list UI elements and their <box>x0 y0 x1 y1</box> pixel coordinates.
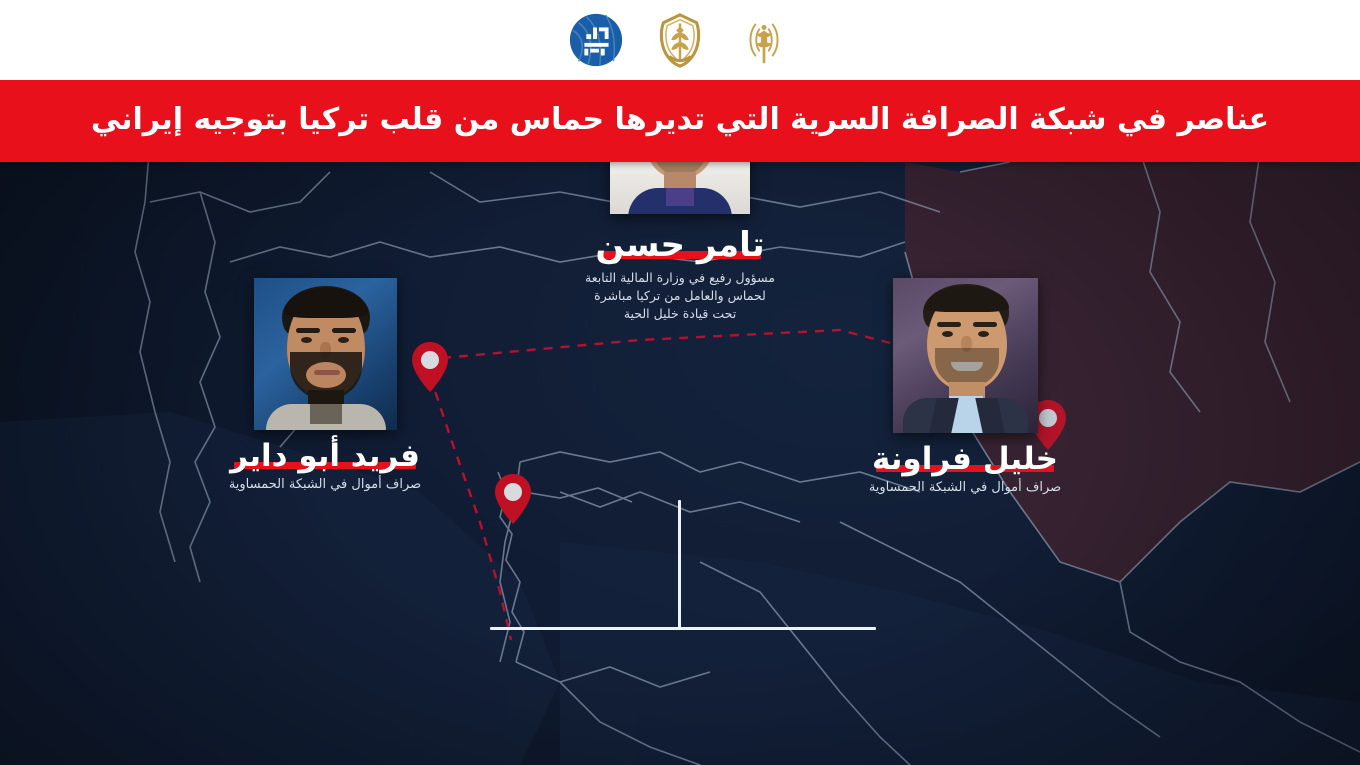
person-name-tamer-hassan: تامر حسن <box>595 228 764 264</box>
person-card-khalil-farwana: خليل فراونة صراف أموال في الشبكة الحمساو… <box>800 278 1130 497</box>
person-photo-khalil-farwana <box>893 278 1038 433</box>
idf-spokesperson-broadcast-icon <box>735 11 793 69</box>
headline-banner: عناصر في شبكة الصرافة السرية التي تديرها… <box>0 80 1360 162</box>
person-role-tamer-hassan: مسؤول رفيع في وزارة المالية التابعة لحما… <box>585 269 775 323</box>
logo-bar <box>0 0 1360 80</box>
headline-text: عناصر في شبكة الصرافة السرية التي تديرها… <box>91 105 1269 137</box>
person-card-farid-abu-dayer: فريد أبو داير صراف أموال في الشبكة الحمس… <box>160 278 490 494</box>
person-role-khalil-farwana: صراف أموال في الشبكة الحمساوية <box>800 479 1130 498</box>
connector-vertical-line <box>678 500 681 629</box>
person-role-farid-abu-dayer: صراف أموال في الشبكة الحمساوية <box>160 476 490 495</box>
idf-emblem-icon <box>651 11 709 69</box>
idf-spokesperson-unit-icon <box>567 11 625 69</box>
person-name-farid-abu-dayer: فريد أبو داير <box>230 440 420 473</box>
infographic-stage: عناصر في شبكة الصرافة السرية التي تديرها… <box>0 0 1360 765</box>
person-name-khalil-farwana: خليل فراونة <box>872 443 1058 476</box>
person-photo-farid-abu-dayer <box>254 278 397 430</box>
connector-horizontal-line <box>490 627 876 630</box>
